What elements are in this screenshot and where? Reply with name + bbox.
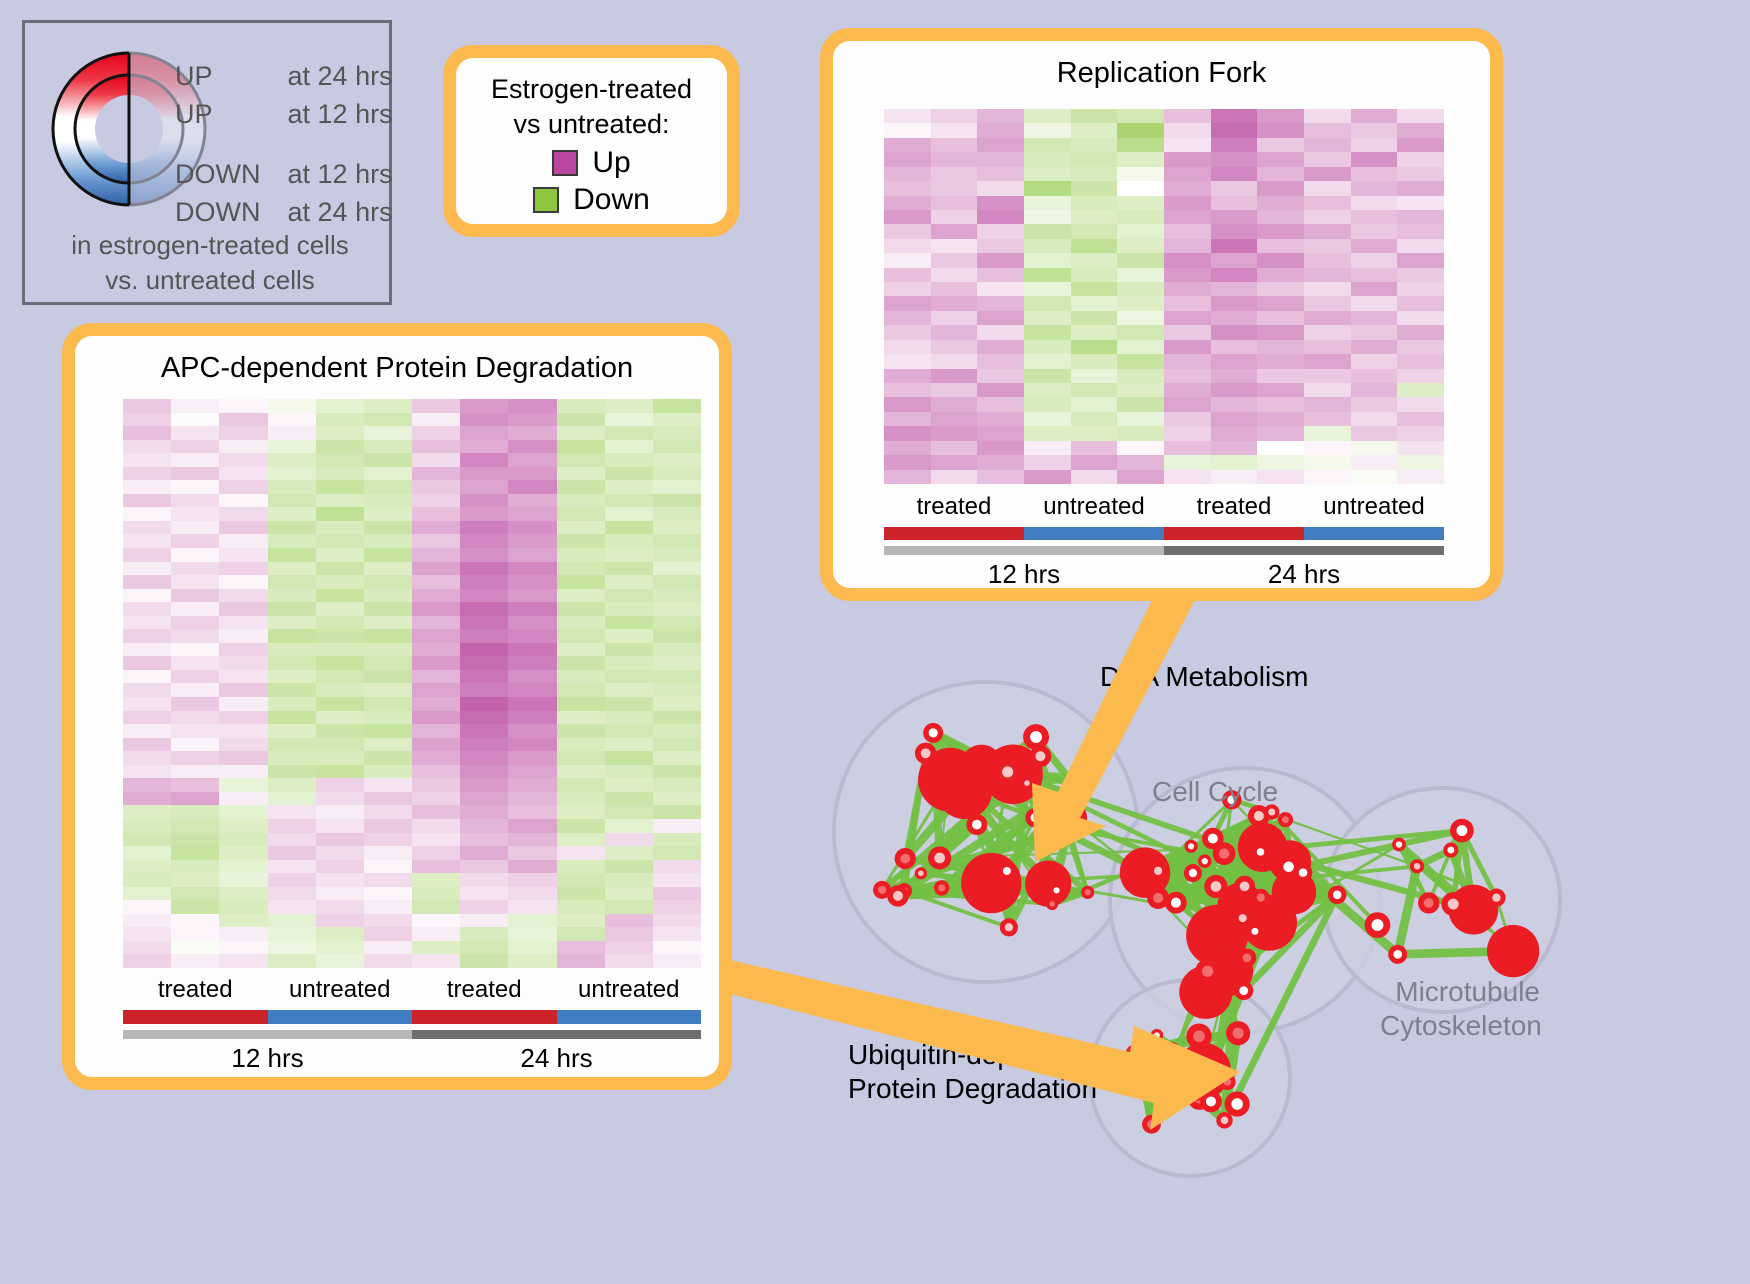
heatmap-cell — [412, 575, 460, 589]
heatmap-cell — [557, 778, 605, 792]
network-node[interactable] — [1050, 884, 1063, 897]
heatmap-cell — [1351, 369, 1398, 383]
heatmap-cell — [364, 778, 412, 792]
network-node-core — [1239, 914, 1247, 922]
network-node[interactable] — [1184, 840, 1197, 853]
color-key-row: DOWN at 24 hrs — [175, 193, 400, 231]
network-node[interactable] — [1234, 876, 1255, 897]
heatmap-cell — [1397, 426, 1444, 440]
network-node[interactable] — [928, 846, 951, 869]
heatmap-cell — [316, 507, 364, 521]
heatmap-cell — [219, 440, 267, 454]
heatmap-cell — [219, 507, 267, 521]
heatmap-cell — [653, 426, 701, 440]
heatmap-cell — [884, 325, 931, 339]
network-node[interactable] — [961, 853, 1021, 913]
network-node[interactable] — [1189, 1086, 1204, 1101]
network-node[interactable] — [1126, 1045, 1142, 1061]
heatmap-cell — [1164, 441, 1211, 455]
heatmap-cell — [412, 534, 460, 548]
heatmap-cell — [1117, 224, 1164, 238]
heatmap-cell — [884, 167, 931, 181]
heatmap-cell — [508, 805, 556, 819]
network-node[interactable] — [1066, 777, 1080, 791]
heatmap-cell — [123, 778, 171, 792]
heatmap-cell — [1117, 109, 1164, 123]
heatmap-cell — [1397, 455, 1444, 469]
network-node-core — [1424, 898, 1434, 908]
heatmap-cell — [557, 887, 605, 901]
network-node-core — [1257, 894, 1265, 902]
heatmap-cell — [557, 792, 605, 806]
heatmap-cell — [268, 792, 316, 806]
heatmap-cell — [1071, 397, 1118, 411]
network-node-core — [1299, 868, 1308, 877]
heatmap-cell — [268, 602, 316, 616]
heatmap-cell — [219, 616, 267, 630]
heatmap-cell — [605, 413, 653, 427]
heatmap-cell — [1397, 123, 1444, 137]
network-node[interactable] — [1234, 981, 1253, 1000]
heatmap-cell — [316, 860, 364, 874]
heatmap-cell — [1304, 441, 1351, 455]
heatmap-cell — [508, 602, 556, 616]
network-node[interactable] — [1025, 808, 1044, 827]
network-node[interactable] — [1142, 1115, 1161, 1134]
heatmap-cell — [364, 833, 412, 847]
heatmap-cell — [1117, 253, 1164, 267]
heatmap-cell — [653, 575, 701, 589]
column-group-label: treated — [123, 976, 268, 1004]
heatmap-cell — [605, 711, 653, 725]
heatmap-cell — [605, 521, 653, 535]
heatmap-cell — [884, 311, 931, 325]
heatmap-cell — [123, 562, 171, 576]
network-node[interactable] — [934, 880, 949, 895]
network-node[interactable] — [1202, 828, 1224, 850]
heatmap-cell — [605, 629, 653, 643]
heatmap-cell — [1024, 455, 1071, 469]
network-node[interactable] — [966, 814, 987, 835]
heatmap-cell — [268, 941, 316, 955]
heatmap-cell — [508, 751, 556, 765]
network-node[interactable] — [1062, 822, 1077, 837]
heatmap-cell — [219, 792, 267, 806]
heatmap-cell — [1351, 441, 1398, 455]
network-node[interactable] — [1186, 1023, 1211, 1048]
heatmap-cell — [653, 656, 701, 670]
heatmap-cell — [123, 711, 171, 725]
heatmap-cell — [219, 805, 267, 819]
heatmap-cell — [268, 724, 316, 738]
network-node[interactable] — [1147, 887, 1169, 909]
color-key-row: DOWN at 12 hrs — [175, 155, 400, 193]
network-node[interactable] — [1410, 859, 1424, 873]
heatmap-cell — [1257, 224, 1304, 238]
heatmap-cell — [1071, 412, 1118, 426]
heatmap-cell — [605, 954, 653, 968]
heatmap-cell — [219, 534, 267, 548]
heatmap-cell — [316, 467, 364, 481]
network-node[interactable] — [1487, 889, 1505, 907]
heatmap-cell — [316, 426, 364, 440]
heatmap-cell — [931, 354, 978, 368]
network-node[interactable] — [1328, 886, 1347, 905]
heatmap-cell — [1211, 152, 1258, 166]
heatmap-cell — [653, 507, 701, 521]
heatmap-cell — [557, 900, 605, 914]
heatmap-cell — [123, 738, 171, 752]
heatmap-cell — [268, 629, 316, 643]
color-key-direction: DOWN — [175, 193, 280, 231]
network-node[interactable] — [1234, 909, 1252, 927]
network-node[interactable] — [1000, 918, 1018, 936]
heatmap-cell — [460, 738, 508, 752]
heatmap-cell — [653, 494, 701, 508]
heatmap-cell — [1397, 354, 1444, 368]
heatmap-cell — [171, 575, 219, 589]
heatmap-cell — [557, 467, 605, 481]
heatmap-cell — [1397, 282, 1444, 296]
network-node[interactable] — [1149, 862, 1167, 880]
heatmap-cell — [884, 123, 931, 137]
heatmap-cell — [1211, 311, 1258, 325]
heatmap-cell — [557, 914, 605, 928]
heatmap-cell — [123, 643, 171, 657]
heatmap-cell — [171, 778, 219, 792]
heatmap-cell — [605, 819, 653, 833]
network-node[interactable] — [1021, 777, 1033, 789]
heatmap-cell — [557, 629, 605, 643]
heatmap-cell — [171, 413, 219, 427]
heatmap-cell — [1397, 196, 1444, 210]
heatmap-cell — [412, 941, 460, 955]
heatmap-cell — [123, 887, 171, 901]
color-key-direction: UP — [175, 57, 280, 95]
heatmap-cell — [1164, 123, 1211, 137]
heatmap-cell — [1117, 123, 1164, 137]
heatmap-cell — [219, 914, 267, 928]
heatmap-cell — [1211, 167, 1258, 181]
heatmap-cell — [653, 643, 701, 657]
network-node[interactable] — [1252, 844, 1269, 861]
heatmap-cell — [171, 697, 219, 711]
heatmap-cell — [977, 441, 1024, 455]
heatmap-cell — [605, 562, 653, 576]
heatmap-cell — [364, 927, 412, 941]
heatmap-cell — [219, 941, 267, 955]
heatmap-cell — [1397, 210, 1444, 224]
heatmap-cell — [605, 927, 653, 941]
heatmap-cell — [1071, 325, 1118, 339]
network-node-core — [921, 748, 931, 758]
heatmap-cell — [653, 914, 701, 928]
network-node-core — [1154, 867, 1162, 875]
heatmap-cell — [364, 426, 412, 440]
network-node[interactable] — [1487, 925, 1539, 977]
heatmap-cell — [412, 643, 460, 657]
heatmap-cell — [316, 683, 364, 697]
network-node-core — [1283, 862, 1294, 873]
heatmap-cell — [605, 453, 653, 467]
heatmap-cell — [653, 778, 701, 792]
heatmap-cell — [1024, 239, 1071, 253]
network-node-core — [1414, 863, 1420, 869]
heatmap-cell — [364, 711, 412, 725]
time-bar-segment — [123, 1030, 412, 1039]
heatmap-cell — [171, 900, 219, 914]
heatmap-cell — [1024, 282, 1071, 296]
network-node-core — [934, 853, 945, 864]
heatmap-cell — [219, 778, 267, 792]
network-node[interactable] — [1226, 1021, 1250, 1045]
network-node-core — [1081, 773, 1089, 781]
network-node[interactable] — [1167, 1080, 1180, 1093]
network-node-core — [1031, 813, 1040, 822]
heatmap-cell — [171, 480, 219, 494]
heatmap-cell — [123, 426, 171, 440]
heatmap-cell — [1257, 210, 1304, 224]
heatmap-cell — [460, 683, 508, 697]
heatmap-cell — [171, 440, 219, 454]
heatmap-cell — [268, 900, 316, 914]
heatmap-cell — [316, 765, 364, 779]
heatmap-cell — [460, 900, 508, 914]
heatmap-cell — [316, 846, 364, 860]
heatmap-cell — [557, 616, 605, 630]
network-node[interactable] — [1219, 1074, 1235, 1090]
heatmap-cell — [1257, 152, 1304, 166]
network-node[interactable] — [1176, 1043, 1231, 1098]
heatmap-cell — [316, 629, 364, 643]
heatmap-cell — [508, 507, 556, 521]
heatmap-cell — [557, 521, 605, 535]
heatmap-cell — [653, 711, 701, 725]
heatmap-cell — [1397, 369, 1444, 383]
heatmap-cell — [268, 562, 316, 576]
heatmap-cell — [557, 534, 605, 548]
column-group-label: untreated — [557, 976, 702, 1004]
heatmap-cell — [557, 562, 605, 576]
heatmap-cell — [460, 778, 508, 792]
heatmap-cell — [1024, 369, 1071, 383]
heatmap-cell — [1117, 383, 1164, 397]
network-node[interactable] — [1247, 924, 1262, 939]
heatmap-cell — [316, 941, 364, 955]
heatmap-cell — [1211, 470, 1258, 484]
heatmap-cell — [364, 670, 412, 684]
network-node[interactable] — [1365, 912, 1391, 938]
network-node[interactable] — [1443, 843, 1458, 858]
network-node-core — [1193, 1030, 1205, 1042]
heatmap-cell — [268, 927, 316, 941]
heatmap-cell — [219, 900, 267, 914]
heatmap-cell — [1164, 397, 1211, 411]
heatmap-cell — [1351, 340, 1398, 354]
heatmap-cell — [977, 109, 1024, 123]
apc-time-bar — [123, 1030, 701, 1039]
heatmap-cell — [219, 494, 267, 508]
heatmap-cell — [460, 656, 508, 670]
heatmap-cell — [268, 589, 316, 603]
network-node[interactable] — [1081, 886, 1094, 899]
heatmap-cell — [364, 562, 412, 576]
network-node[interactable] — [1023, 724, 1049, 750]
network-node[interactable] — [1151, 1029, 1163, 1041]
heatmap-cell — [364, 453, 412, 467]
heatmap-cell — [931, 181, 978, 195]
network-node[interactable] — [1162, 1042, 1181, 1061]
time-label: 24 hrs — [1164, 559, 1444, 590]
network-node[interactable] — [1294, 863, 1313, 882]
heatmap-cell — [1117, 470, 1164, 484]
heatmap-cell — [412, 589, 460, 603]
heatmap-cell — [508, 467, 556, 481]
heatmap-cell — [171, 792, 219, 806]
heatmap-cell — [364, 548, 412, 562]
heatmap-cell — [219, 846, 267, 860]
heatmap-cell — [557, 494, 605, 508]
network-node[interactable] — [1204, 875, 1227, 898]
heatmap-cell — [1211, 325, 1258, 339]
heatmap-cell — [931, 369, 978, 383]
time-bar-segment — [884, 546, 1164, 555]
heatmap-cell — [171, 507, 219, 521]
network-node-core — [1202, 858, 1208, 864]
network-node[interactable] — [895, 848, 916, 869]
heatmap-cell — [605, 738, 653, 752]
heatmap-cell — [1024, 426, 1071, 440]
heatmap-cell — [1351, 181, 1398, 195]
heatmap-cell — [557, 440, 605, 454]
heatmap-cell — [123, 453, 171, 467]
network-node[interactable] — [1441, 892, 1465, 916]
heatmap-cell — [1024, 210, 1071, 224]
heatmap-cell — [123, 954, 171, 968]
network-node-core — [1188, 843, 1194, 849]
heatmap-cell — [508, 711, 556, 725]
heatmap-cell — [412, 440, 460, 454]
legend-title-line2: vs untreated: — [456, 107, 727, 142]
heatmap-cell — [316, 954, 364, 968]
network-node[interactable] — [1252, 889, 1270, 907]
network-node-core — [1221, 1117, 1229, 1125]
heatmap-cell — [653, 792, 701, 806]
network-node[interactable] — [1225, 1091, 1250, 1116]
heatmap-cell — [171, 941, 219, 955]
heatmap-cell — [1164, 224, 1211, 238]
heatmap-cell — [653, 629, 701, 643]
heatmap-cell — [1211, 109, 1258, 123]
heatmap-cell — [557, 805, 605, 819]
network-node[interactable] — [1046, 898, 1058, 910]
heatmap-cell — [364, 805, 412, 819]
heatmap-cell — [412, 778, 460, 792]
apc-heatmap — [123, 399, 701, 968]
network-node[interactable] — [998, 862, 1015, 879]
heatmap-cell — [1071, 181, 1118, 195]
heatmap-cell — [1397, 470, 1444, 484]
network-node[interactable] — [887, 885, 909, 907]
heatmap-cell — [1257, 383, 1304, 397]
heatmap-cell — [1304, 181, 1351, 195]
replication-fork-panel: Replication Fork treated untreated treat… — [820, 28, 1503, 601]
network-node[interactable] — [1198, 854, 1212, 868]
network-node[interactable] — [996, 760, 1020, 784]
heatmap-cell — [1024, 196, 1071, 210]
heatmap-cell — [316, 778, 364, 792]
heatmap-cell — [605, 860, 653, 874]
network-node[interactable] — [915, 743, 936, 764]
heatmap-cell — [605, 656, 653, 670]
heatmap-cell — [653, 765, 701, 779]
apc-column-labels: treated untreated treated untreated — [123, 976, 701, 1004]
heatmap-cell — [884, 210, 931, 224]
network-node[interactable] — [1388, 945, 1407, 964]
heatmap-cell — [508, 521, 556, 535]
heatmap-cell — [171, 656, 219, 670]
heatmap-cell — [653, 873, 701, 887]
heatmap-cell — [605, 616, 653, 630]
network-node[interactable] — [1195, 959, 1220, 984]
network-node[interactable] — [915, 867, 927, 879]
network-node-core — [1153, 893, 1163, 903]
heatmap-cell — [364, 724, 412, 738]
heatmap-cell — [171, 616, 219, 630]
heatmap-cell — [653, 562, 701, 576]
heatmap-cell — [653, 467, 701, 481]
heatmap-cell — [219, 683, 267, 697]
heatmap-cell — [364, 941, 412, 955]
heatmap-cell — [884, 239, 931, 253]
heatmap-cell — [931, 268, 978, 282]
heatmap-cell — [268, 683, 316, 697]
heatmap-cell — [316, 914, 364, 928]
heatmap-cell — [884, 412, 931, 426]
heatmap-cell — [268, 426, 316, 440]
heatmap-cell — [123, 900, 171, 914]
network-node-core — [1224, 1078, 1232, 1086]
heatmap-cell — [1117, 455, 1164, 469]
color-key-rows: UP at 24 hrs UP at 12 hrs DOWN at 12 hrs… — [175, 57, 400, 231]
network-node[interactable] — [1418, 892, 1439, 913]
network-node[interactable] — [1450, 819, 1474, 843]
heatmap-cell — [268, 778, 316, 792]
heatmap-cell — [508, 697, 556, 711]
network-node[interactable] — [1278, 812, 1293, 827]
network-node[interactable] — [1135, 1073, 1153, 1091]
network-node[interactable] — [923, 723, 943, 743]
heatmap-cell — [123, 697, 171, 711]
heatmap-cell — [171, 467, 219, 481]
heatmap-cell — [1024, 138, 1071, 152]
network-node[interactable] — [1216, 1112, 1232, 1128]
heatmap-cell — [557, 670, 605, 684]
heatmap-cell — [1397, 397, 1444, 411]
network-node[interactable] — [1392, 838, 1406, 852]
heatmap-cell — [1117, 340, 1164, 354]
heatmap-cell — [171, 521, 219, 535]
replication-fork-title: Replication Fork — [833, 57, 1490, 90]
heatmap-cell — [931, 426, 978, 440]
heatmap-cell — [1211, 181, 1258, 195]
network-node[interactable] — [1238, 948, 1257, 967]
network-node[interactable] — [1184, 864, 1202, 882]
heatmap-cell — [412, 548, 460, 562]
heatmap-cell — [1117, 167, 1164, 181]
heatmap-cell — [1071, 455, 1118, 469]
heatmap-cell — [123, 873, 171, 887]
